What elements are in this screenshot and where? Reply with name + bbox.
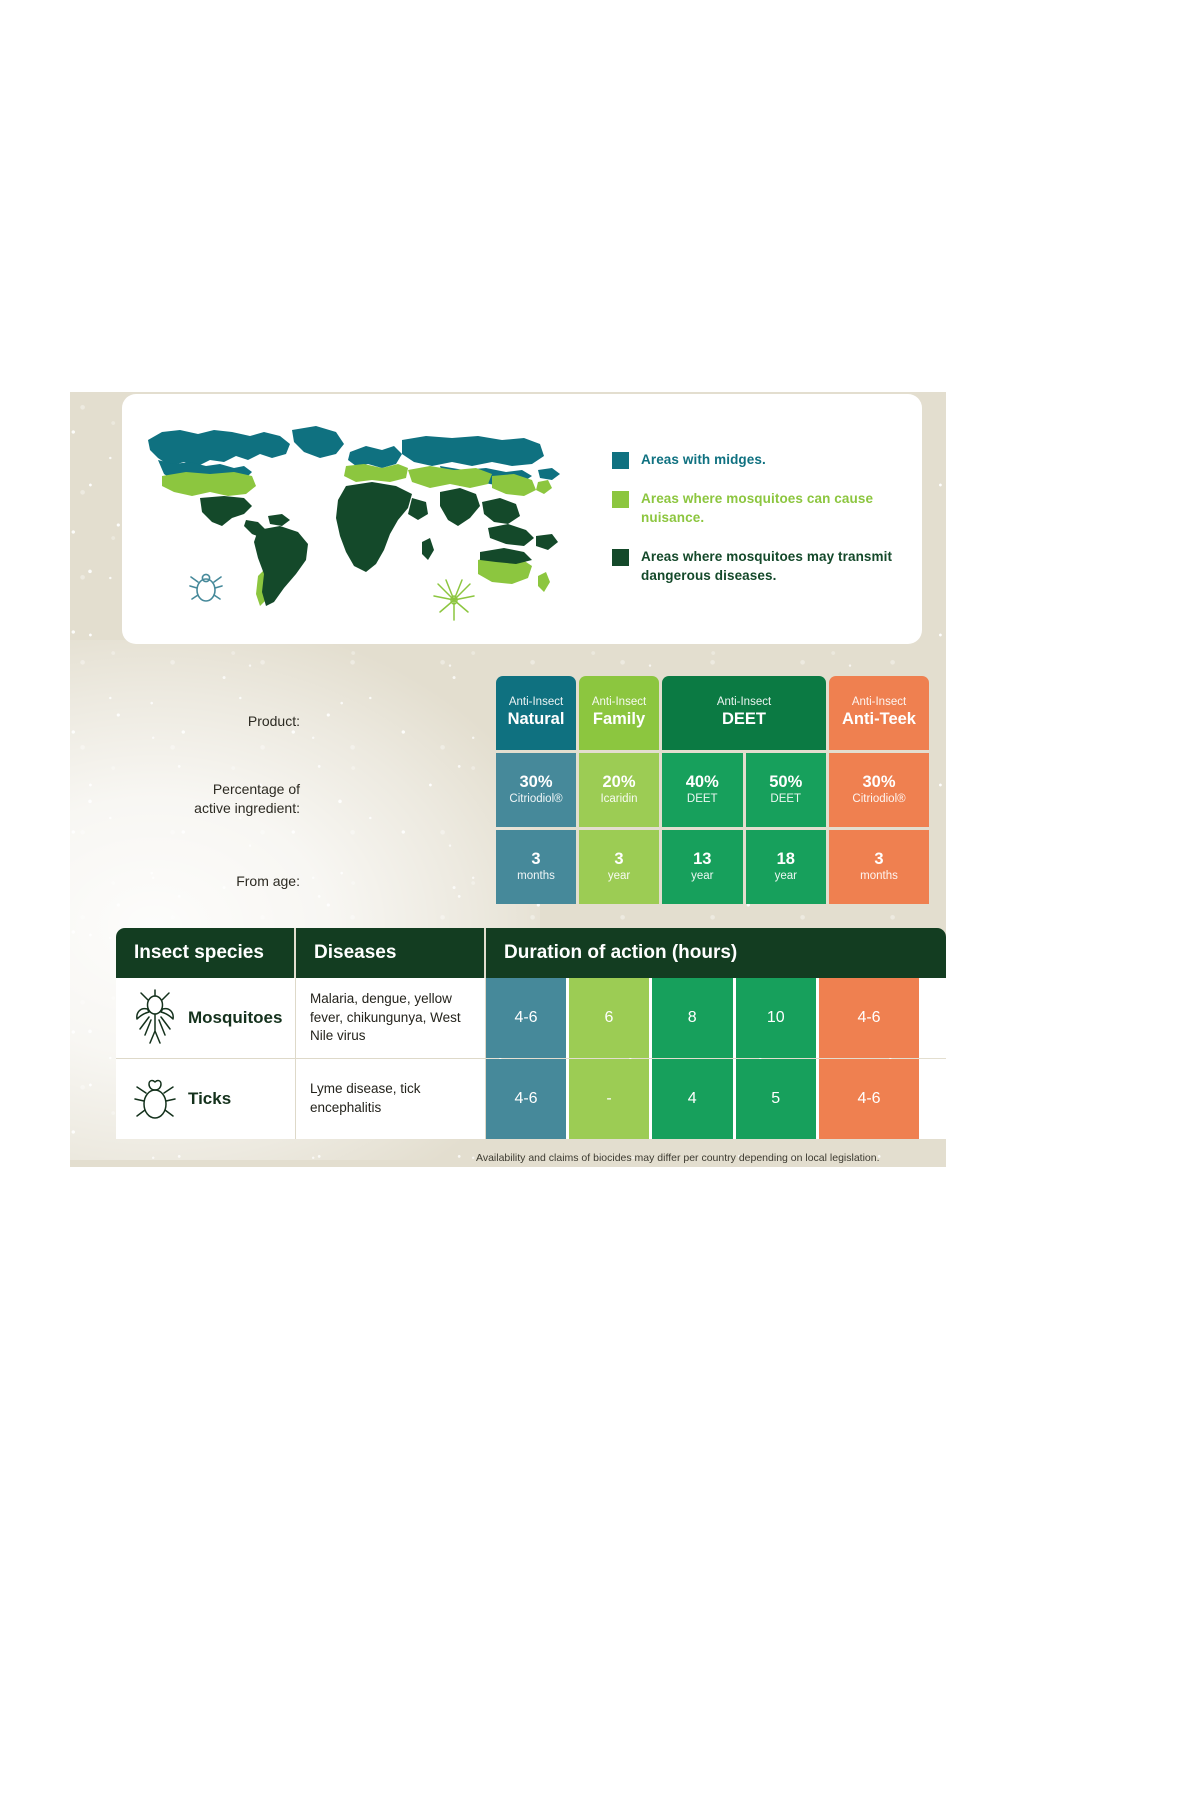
infographic-root: Areas with midges. Areas where mosquitoe… (0, 0, 1200, 1800)
diseases-cell-mosquitoes: Malaria, dengue, yellow fever, chikungun… (296, 978, 486, 1058)
percentage-value-deet40: 40% (686, 773, 719, 793)
duration-cells-ticks: 4-6 - 4 5 4-6 (486, 1059, 946, 1139)
product-spec-grid: Product: Percentage of active ingredient… (70, 676, 946, 927)
product-cell-anti-teek[interactable]: Anti-Insect Anti-Teek (829, 676, 929, 750)
legend-swatch-nuisance (612, 491, 629, 508)
percentage-value-natural: 30% (519, 773, 552, 793)
age-value-anti-teek: 3 (874, 850, 883, 870)
legend-label-dangerous: Areas where mosquitoes may transmit dang… (641, 547, 902, 586)
comparison-table: Insect species Diseases Duration of acti… (116, 928, 946, 1139)
species-name-ticks: Ticks (188, 1089, 231, 1109)
percentage-value-anti-teek: 30% (862, 773, 895, 793)
percentage-ingredient-deet40: DEET (687, 792, 718, 807)
age-cell-deet40: 13 year (662, 830, 743, 904)
duration-mosquitoes-anti-teek: 4-6 (819, 978, 919, 1058)
percentage-ingredient-deet50: DEET (770, 792, 801, 807)
duration-mosquitoes-deet40: 8 (652, 978, 733, 1058)
table-header-row: Insect species Diseases Duration of acti… (116, 928, 946, 978)
duration-ticks-family: - (569, 1059, 649, 1139)
mosquito-doodle (430, 578, 478, 622)
age-value-natural: 3 (531, 850, 540, 870)
age-unit-family: year (608, 869, 630, 884)
duration-ticks-deet40: 4 (652, 1059, 733, 1139)
age-cell-natural: 3 months (496, 830, 576, 904)
row-label-product: Product: (60, 712, 300, 731)
duration-mosquitoes-natural: 4-6 (486, 978, 566, 1058)
age-unit-anti-teek: months (860, 869, 898, 884)
product-cell-family[interactable]: Anti-Insect Family (579, 676, 659, 750)
age-cell-family: 3 year (579, 830, 659, 904)
footnote: Availability and claims of biocides may … (476, 1152, 946, 1166)
row-label-percentage: Percentage of active ingredient: (60, 780, 300, 818)
map-region-dangerous (200, 482, 558, 606)
diseases-cell-ticks: Lyme disease, tick encephalitis (296, 1059, 486, 1139)
legend-item-nuisance: Areas where mosquitoes can cause nuisanc… (612, 489, 902, 528)
duration-mosquitoes-family: 6 (569, 978, 649, 1058)
table-row: Mosquitoes Malaria, dengue, yellow fever… (116, 978, 946, 1058)
product-name-family: Family (593, 709, 645, 730)
legend-item-dangerous: Areas where mosquitoes may transmit dang… (612, 547, 902, 586)
product-cell-deet[interactable]: Anti-Insect DEET (662, 676, 826, 750)
duration-cells-mosquitoes: 4-6 6 8 10 4-6 (486, 978, 946, 1058)
species-name-mosquitoes: Mosquitoes (188, 1008, 282, 1028)
map-legend: Areas with midges. Areas where mosquitoe… (612, 450, 902, 605)
table-header-diseases: Diseases (296, 928, 486, 978)
percentage-cell-deet40: 40% DEET (662, 753, 743, 827)
duration-ticks-anti-teek: 4-6 (819, 1059, 919, 1139)
table-header-species: Insect species (116, 928, 296, 978)
age-cell-anti-teek: 3 months (829, 830, 929, 904)
age-value-deet40: 13 (693, 850, 711, 870)
product-name-natural: Natural (508, 709, 565, 730)
product-brand-anti-teek: Anti-Insect (852, 695, 906, 709)
mosquito-icon (132, 989, 178, 1047)
species-cell-mosquitoes: Mosquitoes (116, 978, 296, 1058)
age-unit-deet40: year (691, 869, 713, 884)
legend-item-midges: Areas with midges. (612, 450, 902, 470)
age-value-family: 3 (614, 850, 623, 870)
table-row: Ticks Lyme disease, tick encephalitis 4-… (116, 1059, 946, 1139)
age-value-deet50: 18 (777, 850, 795, 870)
percentage-cell-natural: 30% Citriodiol® (496, 753, 576, 827)
duration-ticks-deet50: 5 (736, 1059, 817, 1139)
product-brand-deet: Anti-Insect (717, 695, 771, 709)
percentage-ingredient-family: Icaridin (600, 792, 637, 807)
percentage-cell-anti-teek: 30% Citriodiol® (829, 753, 929, 827)
legend-label-midges: Areas with midges. (641, 450, 766, 470)
duration-ticks-natural: 4-6 (486, 1059, 566, 1139)
percentage-value-deet50: 50% (769, 773, 802, 793)
age-unit-natural: months (517, 869, 555, 884)
tick-doodle (186, 568, 226, 608)
legend-label-nuisance: Areas where mosquitoes can cause nuisanc… (641, 489, 902, 528)
row-label-from-age: From age: (60, 872, 300, 891)
percentage-row: 30% Citriodiol® 20% Icaridin 40% DEET 50… (496, 753, 936, 827)
tick-icon (132, 1073, 178, 1125)
product-header-row: Anti-Insect Natural Anti-Insect Family A… (496, 676, 936, 750)
from-age-row: 3 months 3 year 13 year 18 year 3 mont (496, 830, 936, 904)
percentage-ingredient-natural: Citriodiol® (509, 792, 562, 807)
product-cell-natural[interactable]: Anti-Insect Natural (496, 676, 576, 750)
duration-mosquitoes-deet50: 10 (736, 978, 817, 1058)
species-cell-ticks: Ticks (116, 1059, 296, 1139)
product-name-anti-teek: Anti-Teek (842, 709, 916, 730)
product-brand-family: Anti-Insect (592, 695, 646, 709)
percentage-ingredient-anti-teek: Citriodiol® (852, 792, 905, 807)
legend-swatch-midges (612, 452, 629, 469)
percentage-cell-deet50: 50% DEET (746, 753, 827, 827)
age-unit-deet50: year (775, 869, 797, 884)
legend-swatch-dangerous (612, 549, 629, 566)
product-name-deet: DEET (722, 709, 766, 730)
percentage-cell-family: 20% Icaridin (579, 753, 659, 827)
map-card: Areas with midges. Areas where mosquitoe… (122, 394, 922, 644)
age-cell-deet50: 18 year (746, 830, 827, 904)
world-map (140, 410, 570, 628)
table-header-duration: Duration of action (hours) (486, 928, 946, 978)
product-brand-natural: Anti-Insect (509, 695, 563, 709)
percentage-value-family: 20% (602, 773, 635, 793)
